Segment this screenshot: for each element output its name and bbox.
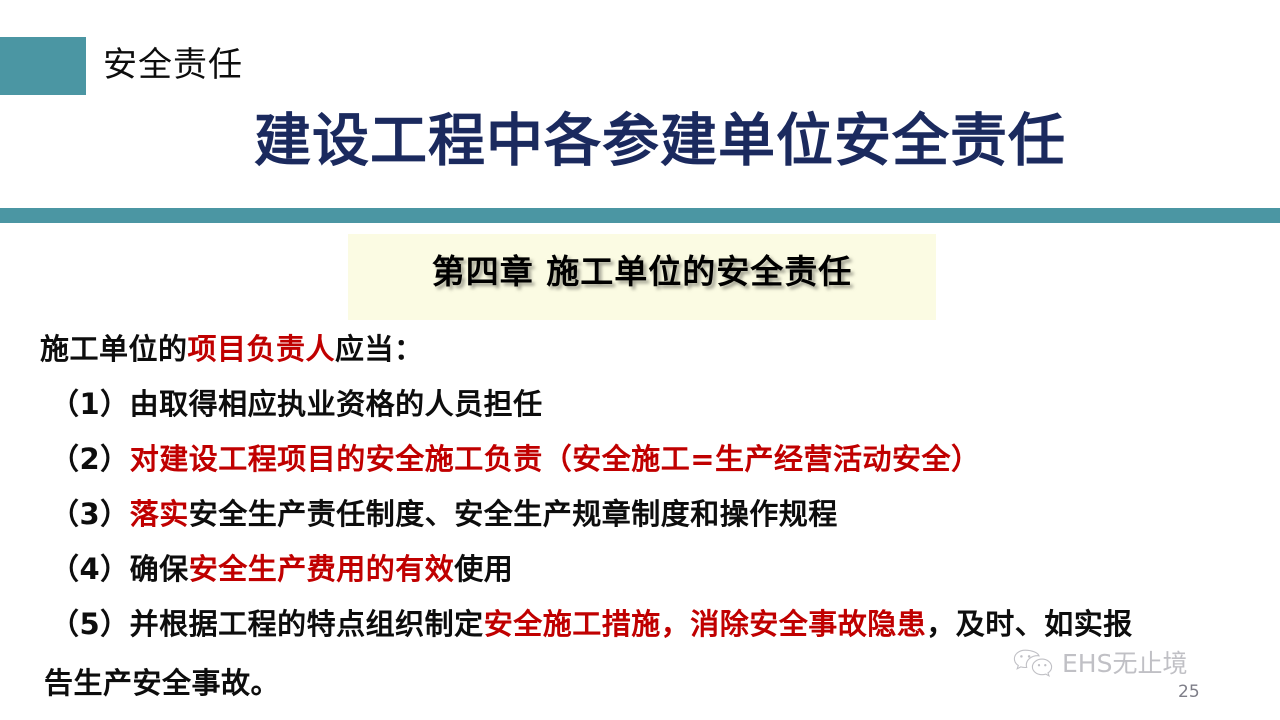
text-segment: ，及时、如实报 [926, 607, 1133, 641]
slide-kicker: 安全责任 [103, 40, 243, 90]
text-segment: （2） [50, 442, 130, 476]
body-line-item-5: （5）并根据工程的特点组织制定安全施工措施，消除安全事故隐患，及时、如实报 [40, 597, 1260, 652]
text-segment: （5）并根据工程的特点组织制定 [50, 607, 484, 641]
text-segment: 使用 [454, 552, 513, 586]
chapter-title: 第四章 施工单位的安全责任 [432, 234, 853, 296]
watermark: EHS无止境 [1012, 648, 1187, 680]
text-segment: （4）确保 [50, 552, 189, 586]
text-segment: 安全生产责任制度、安全生产规章制度和操作规程 [189, 497, 838, 531]
chapter-banner: 第四章 施工单位的安全责任 [348, 234, 936, 320]
wechat-icon [1012, 648, 1054, 680]
text-segment: 施工单位的 [40, 332, 188, 366]
text-segment: 安全生产费用的有效 [189, 552, 455, 586]
body-line-item-1: （1）由取得相应执业资格的人员担任 [40, 377, 1260, 432]
body-line-item-4: （4）确保安全生产费用的有效使用 [40, 542, 1260, 597]
body-line-intro: 施工单位的项目负责人应当： [40, 322, 1260, 377]
watermark-label: EHS无止境 [1062, 649, 1187, 679]
body-line-item-3: （3）落实安全生产责任制度、安全生产规章制度和操作规程 [40, 487, 1260, 542]
text-segment: 应当： [335, 332, 424, 366]
text-segment: （1）由取得相应执业资格的人员担任 [50, 387, 543, 421]
text-segment: 告生产安全事故。 [44, 666, 280, 700]
text-segment: 项目负责人 [188, 332, 336, 366]
text-segment: 对建设工程项目的安全施工负责（安全施工=生产经营活动安全） [130, 442, 981, 476]
text-segment: 落实 [130, 497, 189, 531]
body-line-item-2: （2）对建设工程项目的安全施工负责（安全施工=生产经营活动安全） [40, 432, 1260, 487]
page-title: 建设工程中各参建单位安全责任 [0, 104, 1280, 178]
page-number: 25 [1178, 682, 1200, 702]
header-accent-block [0, 37, 86, 95]
header-divider [0, 208, 1280, 223]
slide-canvas: 安全责任 建设工程中各参建单位安全责任 第四章 施工单位的安全责任 施工单位的项… [0, 0, 1280, 720]
text-segment: （3） [50, 497, 130, 531]
text-segment: 安全施工措施，消除安全事故隐患 [484, 607, 927, 641]
